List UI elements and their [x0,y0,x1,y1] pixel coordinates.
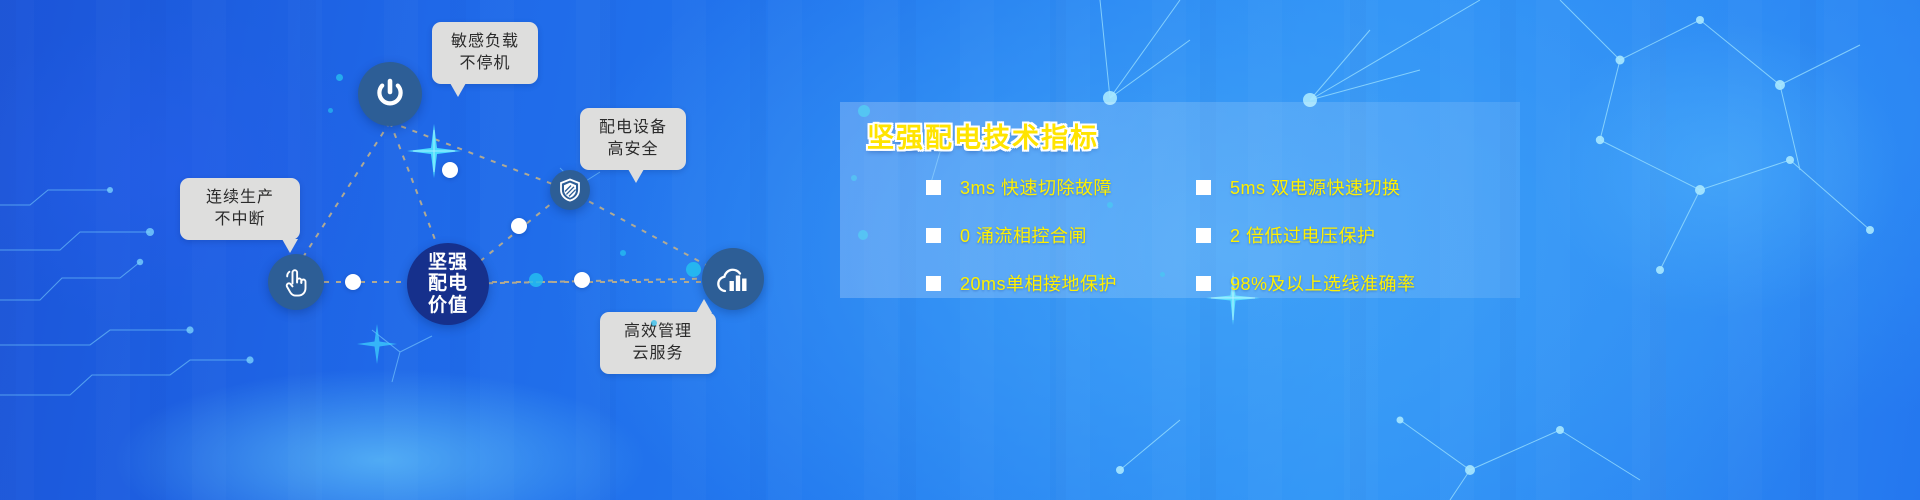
center-node-value[interactable]: 坚强 配电 价值 [407,243,489,325]
node-shield[interactable] [550,170,590,210]
square-bullet-icon [1196,276,1211,291]
callout-power-line2: 不停机 [444,53,526,75]
callout-shield-line1: 配电设备 [592,117,674,139]
panel-title: 坚强配电技术指标 [867,116,1099,155]
callout-shield-line2: 高安全 [592,139,674,161]
shield-icon [559,178,581,202]
spec-item: 20ms单相接地保护 [926,270,1196,296]
spec-text: 5ms 双电源快速切换 [1230,174,1401,200]
node-power[interactable] [358,62,422,126]
spec-item: 2 倍低过电压保护 [1196,222,1516,248]
connector-dot [442,162,458,178]
spec-item: 98%及以上选线准确率 [1196,270,1516,296]
callout-touch: 连续生产 不中断 [180,178,300,240]
square-bullet-icon [926,228,941,243]
spec-item: 0 涌流相控合闸 [926,222,1196,248]
hand-touch-icon [281,266,311,298]
square-bullet-icon [926,180,941,195]
power-icon [373,77,407,111]
callout-tail [696,299,712,313]
callout-touch-line2: 不中断 [192,209,288,231]
callout-tail [450,83,466,97]
spec-grid: 3ms 快速切除故障 5ms 双电源快速切换 0 涌流相控合闸 2 倍低过电压保… [926,174,1516,296]
spec-item: 3ms 快速切除故障 [926,174,1196,200]
tech-spec-panel: 坚强配电技术指标 3ms 快速切除故障 5ms 双电源快速切换 0 涌流相控合闸… [840,102,1520,298]
callout-cloud-line1: 高效管理 [612,321,704,343]
callout-power: 敏感负载 不停机 [432,22,538,84]
callout-cloud-line2: 云服务 [612,343,704,365]
connector-dot [574,272,590,288]
square-bullet-icon [1196,228,1211,243]
spec-text: 98%及以上选线准确率 [1230,270,1416,296]
spec-text: 0 涌流相控合闸 [960,222,1087,248]
accent-dot [651,320,657,326]
accent-dot [328,108,333,113]
spec-text: 2 倍低过电压保护 [1230,222,1376,248]
spec-item: 5ms 双电源快速切换 [1196,174,1516,200]
center-label-line2: 配电 [428,273,468,294]
spec-text: 20ms单相接地保护 [960,270,1117,296]
callout-tail [628,169,644,183]
square-bullet-icon [1196,180,1211,195]
callout-tail [282,239,298,253]
banner-stage: 敏感负载 不停机 配电设备 高安全 连续生产 不中断 [0,0,1920,500]
connector-dot [511,218,527,234]
callout-cloud: 高效管理 云服务 [600,312,716,374]
center-label-line1: 坚强 [428,252,468,273]
callout-power-line1: 敏感负载 [444,31,526,53]
callout-shield: 配电设备 高安全 [580,108,686,170]
connector-dot [345,274,361,290]
square-bullet-icon [926,276,941,291]
spec-text: 3ms 快速切除故障 [960,174,1112,200]
cloud-chart-icon [714,264,752,294]
accent-dot [529,273,543,287]
accent-dot [620,250,626,256]
accent-dot [686,262,701,277]
accent-dot [336,74,343,81]
callout-touch-line1: 连续生产 [192,187,288,209]
node-touch[interactable] [268,254,324,310]
center-label-line3: 价值 [428,295,468,316]
